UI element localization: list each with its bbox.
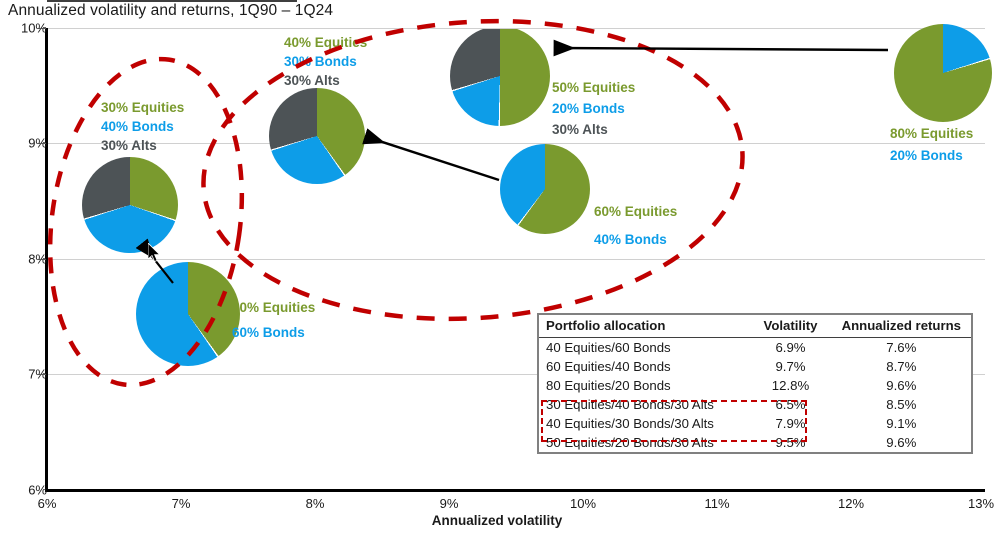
- header-portfolio-allocation: Portfolio allocation: [539, 315, 749, 338]
- header-volatility: Volatility: [749, 315, 841, 338]
- cell-returns: 9.6%: [842, 376, 971, 395]
- label-30-bonds: 30% Bonds: [284, 52, 367, 71]
- pie-60-equities-40-bonds[interactable]: [500, 144, 590, 234]
- pie-30-equities-40-bonds-30-alts[interactable]: [82, 157, 178, 253]
- label-60-bonds: 60% Bonds: [232, 320, 315, 345]
- cell-returns: 8.7%: [842, 357, 971, 376]
- label-60-equities: 60% Equities: [594, 198, 677, 226]
- table-header-row: Portfolio allocation Volatility Annualiz…: [539, 315, 971, 338]
- cell-returns: 9.6%: [842, 433, 971, 452]
- mouse-cursor: [148, 243, 162, 263]
- cell-returns: 8.5%: [842, 395, 971, 414]
- table-row: 60 Equities/40 Bonds 9.7% 8.7%: [539, 357, 971, 376]
- cell-allocation: 40 Equities/60 Bonds: [539, 338, 749, 358]
- cell-returns: 9.1%: [842, 414, 971, 433]
- label-20-bonds-b: 20% Bonds: [890, 145, 973, 167]
- pie-40-equities-60-bonds[interactable]: [136, 262, 240, 366]
- label-30-alts-b: 30% Alts: [284, 71, 367, 90]
- label-30-equities: 30% Equities: [101, 98, 184, 117]
- table-row: 80 Equities/20 Bonds 12.8% 9.6%: [539, 376, 971, 395]
- header-annualized-returns: Annualized returns: [842, 315, 971, 338]
- label-50-20-30: 50% Equities 20% Bonds 30% Alts: [552, 77, 635, 140]
- cell-volatility: 9.7%: [749, 357, 841, 376]
- label-80-20: 80% Equities 20% Bonds: [890, 123, 973, 167]
- label-40-bonds-b: 40% Bonds: [594, 226, 677, 254]
- x-tick-13pct: 13%: [968, 496, 994, 511]
- label-40-30-30: 40% Equities 30% Bonds 30% Alts: [284, 33, 367, 90]
- x-tick-9pct: 9%: [440, 496, 459, 511]
- cell-volatility: 6.9%: [749, 338, 841, 358]
- gridline-8pct: [47, 259, 985, 260]
- x-tick-11pct: 11%: [704, 496, 729, 511]
- y-tickmark-7pct: [39, 374, 46, 375]
- pie-80-equities-20-bonds[interactable]: [894, 24, 992, 122]
- table-highlight-box: [541, 400, 807, 442]
- x-tick-6pct: 6%: [38, 496, 57, 511]
- pie-50-equities-20-bonds-30-alts-clip: [450, 29, 550, 129]
- label-30-alts-c: 30% Alts: [552, 119, 635, 140]
- table-row: 40 Equities/60 Bonds 6.9% 7.6%: [539, 338, 971, 358]
- y-axis-ticks: 10% 9% 8% 7% 6%: [0, 0, 47, 537]
- label-40-bonds: 40% Bonds: [101, 117, 184, 136]
- chart-title: Annualized volatility and returns, 1Q90 …: [8, 2, 333, 20]
- chart-canvas: Annualized volatility and returns, 1Q90 …: [0, 0, 994, 537]
- y-tickmark-10pct: [39, 28, 46, 29]
- label-20-bonds: 20% Bonds: [552, 98, 635, 119]
- label-60-40: 60% Equities 40% Bonds: [594, 198, 677, 254]
- label-40-60: 40% Equities 60% Bonds: [232, 295, 315, 345]
- x-tick-7pct: 7%: [172, 496, 191, 511]
- x-tick-12pct: 12%: [838, 496, 864, 511]
- gridline-9pct: [47, 143, 985, 144]
- cell-allocation: 80 Equities/20 Bonds: [539, 376, 749, 395]
- label-30-alts: 30% Alts: [101, 136, 184, 155]
- label-40-equities: 40% Equities: [284, 33, 367, 52]
- label-30-40-30: 30% Equities 40% Bonds 30% Alts: [101, 98, 184, 155]
- pie-40-equities-30-bonds-30-alts[interactable]: [269, 88, 365, 184]
- label-50-equities: 50% Equities: [552, 77, 635, 98]
- x-tick-10pct: 10%: [570, 496, 596, 511]
- x-axis-line: [45, 489, 985, 492]
- x-axis-title: Annualized volatility: [0, 513, 994, 528]
- x-tick-8pct: 8%: [306, 496, 325, 511]
- y-tickmark-9pct: [39, 143, 46, 144]
- y-tickmark-8pct: [39, 259, 46, 260]
- label-80-equities: 80% Equities: [890, 123, 973, 145]
- cell-volatility: 12.8%: [749, 376, 841, 395]
- label-40-equities-b: 40% Equities: [232, 295, 315, 320]
- cell-allocation: 60 Equities/40 Bonds: [539, 357, 749, 376]
- cell-returns: 7.6%: [842, 338, 971, 358]
- pie-50-equities-20-bonds-30-alts[interactable]: [450, 29, 550, 126]
